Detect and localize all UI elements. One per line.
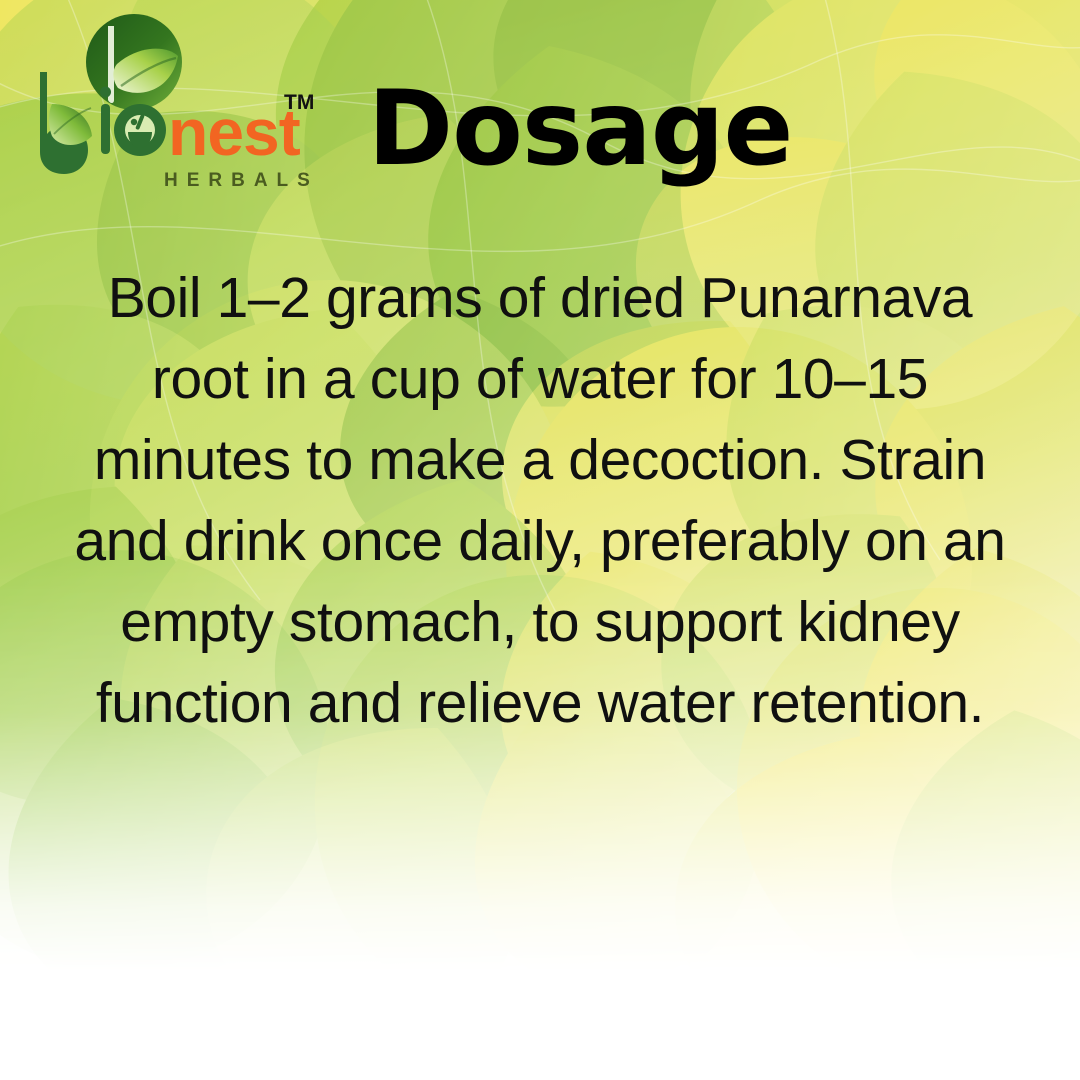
dosage-description: Boil 1–2 grams of dried Punarnava root i… — [0, 258, 1080, 744]
brand-logo[interactable]: nest TM HERBALS — [22, 8, 322, 198]
brand-tagline: HERBALS — [164, 170, 319, 191]
brand-logo-svg: nest TM HERBALS — [22, 8, 322, 198]
poster-canvas: nest TM HERBALS Dosage Boil 1–2 grams of… — [0, 0, 1080, 1080]
body-line: Boil 1–2 grams of dried Punarnava — [14, 258, 1066, 339]
body-line: function and relieve water retention. — [14, 663, 1066, 744]
wordmark-nest: nest — [168, 95, 301, 169]
body-line: root in a cup of water for 10–15 — [14, 339, 1066, 420]
body-line: and drink once daily, preferably on an — [14, 501, 1066, 582]
body-line: minutes to make a decoction. Strain — [14, 420, 1066, 501]
trademark-symbol: TM — [284, 91, 314, 114]
page-title: Dosage — [330, 78, 830, 181]
body-line: empty stomach, to support kidney — [14, 582, 1066, 663]
